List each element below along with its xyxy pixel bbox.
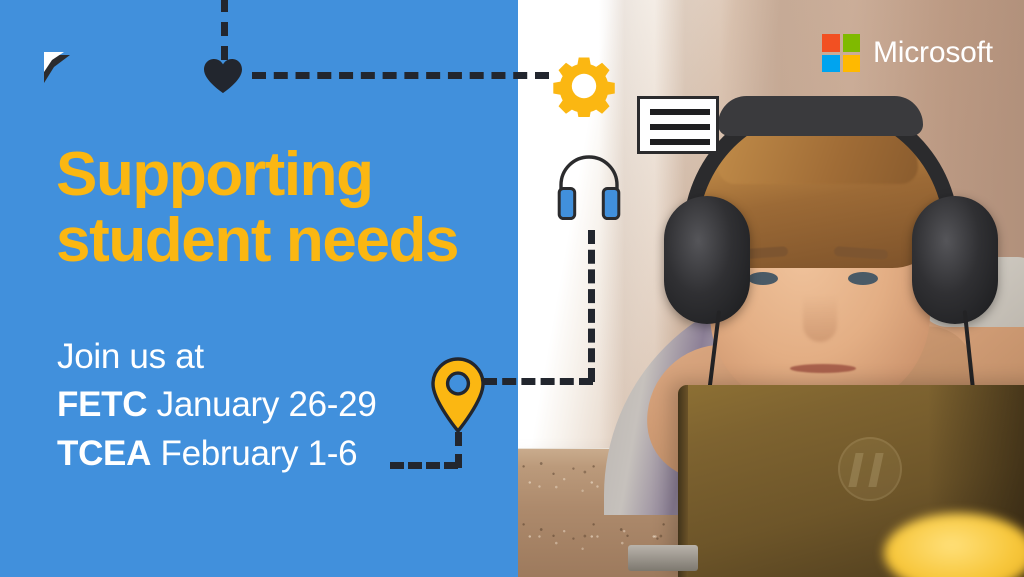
chat-bubble-icon — [637, 96, 719, 154]
dashed-connector-heart-to-gear — [252, 72, 549, 79]
map-pin-icon — [430, 357, 486, 433]
microsoft-logo: Microsoft — [822, 34, 993, 72]
promo-banner: Supporting student needs Join us at FETC… — [0, 0, 1024, 577]
page-title: Supporting student needs — [56, 142, 496, 273]
gear-icon — [553, 55, 615, 117]
dashed-connector-bottom-horizontal — [390, 462, 458, 469]
worn-headphones-earcup-right — [912, 196, 998, 324]
event-tcea-dates: February 1-6 — [161, 434, 358, 473]
ms-square-red — [822, 34, 840, 52]
chat-bubble-tail-fill — [44, 52, 64, 72]
chat-bubble-lines — [650, 109, 710, 145]
dashed-connector-pin-to-headphones — [483, 378, 593, 385]
event-fetc-name: FETC — [57, 385, 147, 424]
dashed-connector-headphones-vertical — [588, 230, 595, 382]
heart-icon — [203, 58, 243, 94]
ms-square-green — [843, 34, 861, 52]
worn-headphones-earcup-left — [664, 196, 750, 324]
student-nose — [803, 296, 837, 342]
event-details: Join us at FETC January 26-29 TCEA Febru… — [57, 333, 376, 478]
student-mouth — [790, 364, 856, 373]
ms-square-yellow — [843, 55, 861, 73]
headphones-icon — [556, 152, 622, 224]
laptop-hinge — [628, 545, 698, 571]
join-us-label: Join us at — [57, 333, 376, 381]
event-fetc-dates: January 26-29 — [157, 385, 377, 424]
event-tcea-name: TCEA — [57, 434, 151, 473]
headline-line-2: student needs — [56, 208, 496, 274]
hp-logo-icon — [838, 437, 902, 501]
microsoft-logo-icon — [822, 34, 860, 72]
worn-headphones-headpad — [718, 96, 923, 136]
event-fetc: FETC January 26-29 — [57, 381, 376, 429]
headline-line-1: Supporting — [56, 142, 496, 208]
dashed-connector-top-vertical — [221, 0, 228, 60]
blue-content-panel — [0, 0, 518, 577]
microsoft-wordmark: Microsoft — [873, 36, 993, 70]
ms-square-blue — [822, 55, 840, 73]
event-tcea: TCEA February 1-6 — [57, 430, 376, 478]
